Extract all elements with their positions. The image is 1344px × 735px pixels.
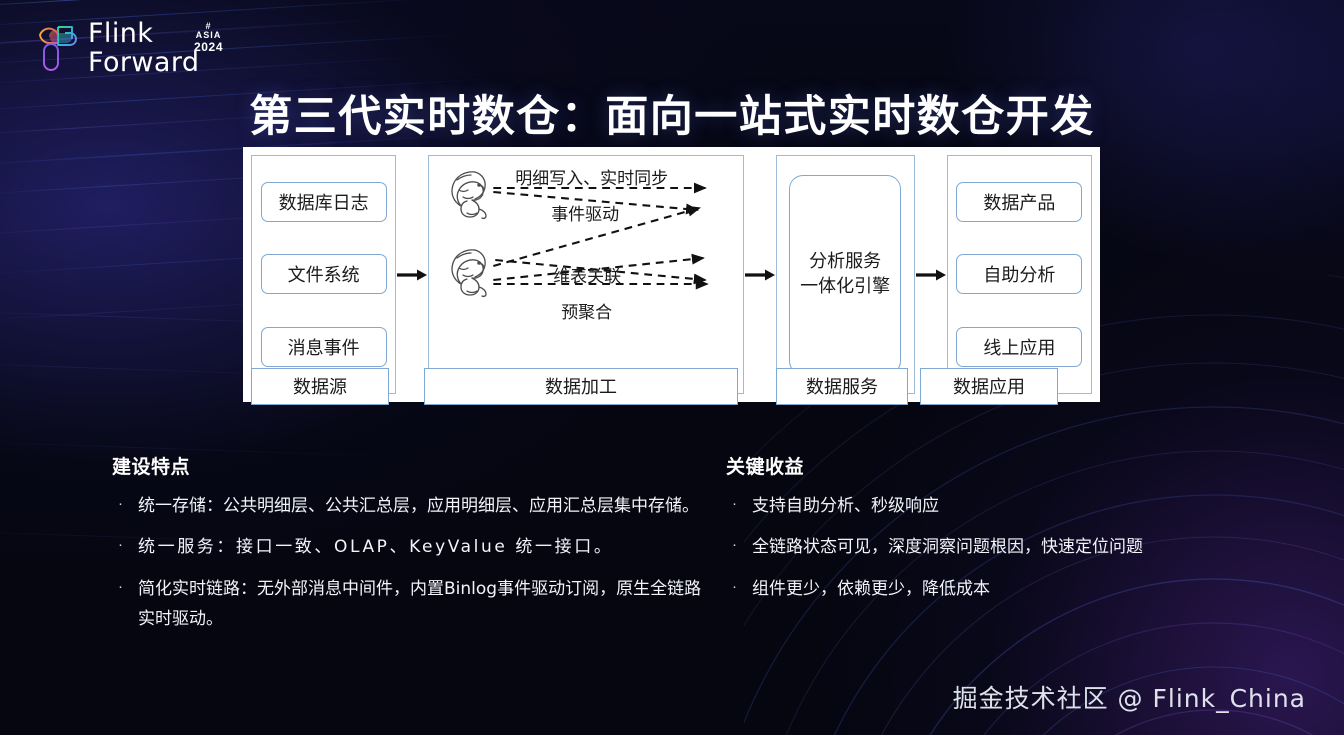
right-column-heading: 关键收益	[726, 452, 1256, 479]
processing-label-event-driven: 事件驱动	[551, 200, 619, 225]
right-bullet-1: 支持自助分析、秒级响应	[752, 491, 939, 521]
brand-edition-badge: # ASIA 2024	[194, 22, 223, 53]
flow-arrow-service-to-application	[915, 155, 947, 394]
list-item: · 简化实时链路：无外部消息中间件，内置Binlog事件驱动订阅，原生全链路实时…	[112, 574, 702, 635]
list-item: · 组件更少，依赖更少，降低成本	[726, 574, 1256, 604]
data-service-panel: 分析服务 一体化引擎	[776, 155, 915, 394]
watermark-text: 掘金技术社区 @ Flink_China	[953, 679, 1306, 715]
app-chip-data-product: 数据产品	[956, 182, 1082, 222]
left-bullet-3: 简化实时链路：无外部消息中间件，内置Binlog事件驱动订阅，原生全链路实时驱动…	[138, 574, 702, 635]
right-bullet-3: 组件更少，依赖更少，降低成本	[752, 574, 990, 604]
brand-wordmark: Flink Forward # ASIA 2024	[88, 20, 199, 76]
caption-data-service: 数据服务	[776, 368, 908, 405]
bullet-dot-icon: ·	[112, 491, 138, 517]
brand-region: # ASIA	[194, 22, 223, 41]
processing-label-detail-write: 明细写入、实时同步	[515, 164, 668, 189]
data-source-panel: 数据库日志 文件系统 消息事件	[251, 155, 396, 394]
brand-logo: Flink Forward # ASIA 2024	[34, 20, 199, 76]
bullet-dot-icon: ·	[726, 532, 752, 558]
source-chip-message-event: 消息事件	[261, 327, 387, 367]
slide-canvas: Flink Forward # ASIA 2024 第三代实时数仓：面向一站式实…	[0, 0, 1344, 735]
page-title: 第三代实时数仓：面向一站式实时数仓开发	[0, 82, 1344, 144]
source-chip-database-log: 数据库日志	[261, 182, 387, 222]
list-item: · 统一存储：公共明细层、公共汇总层，应用明细层、应用汇总层集中存储。	[112, 491, 702, 521]
brand-line-1: Flink	[88, 20, 199, 48]
left-bullet-2: 统一服务：接口一致、OLAP、KeyValue 统一接口。	[138, 532, 613, 562]
column-construction-features: 建设特点 · 统一存储：公共明细层、公共汇总层，应用明细层、应用汇总层集中存储。…	[112, 452, 702, 645]
left-bullet-1: 统一存储：公共明细层、公共汇总层，应用明细层、应用汇总层集中存储。	[138, 491, 699, 521]
brand-year: 2024	[194, 41, 223, 54]
bullet-dot-icon: ·	[726, 491, 752, 517]
bullet-dot-icon: ·	[726, 574, 752, 600]
bullet-dot-icon: ·	[112, 532, 138, 558]
flow-arrow-processing-to-service	[744, 155, 776, 394]
list-item: · 全链路状态可见，深度洞察问题根因，快速定位问题	[726, 532, 1256, 562]
source-chip-file-system: 文件系统	[261, 254, 387, 294]
service-line-2: 一体化引擎	[800, 275, 890, 299]
right-bullet-2: 全链路状态可见，深度洞察问题根因，快速定位问题	[752, 532, 1143, 562]
analysis-service-engine-box: 分析服务 一体化引擎	[789, 175, 901, 375]
data-processing-panel: 明细写入、实时同步 事件驱动 维表关联 预聚合 DWD DWS	[428, 155, 743, 394]
diagram-caption-row: 数据源 数据加工 数据服务 数据应用	[251, 368, 1092, 405]
list-item: · 支持自助分析、秒级响应	[726, 491, 1256, 521]
app-chip-self-service-analysis: 自助分析	[956, 254, 1082, 294]
bullet-dot-icon: ·	[112, 574, 138, 600]
service-line-1: 分析服务	[809, 250, 881, 274]
data-application-panel: 数据产品 自助分析 线上应用	[947, 155, 1092, 394]
architecture-diagram: 数据库日志 文件系统 消息事件	[243, 147, 1100, 402]
flow-arrow-source-to-processing	[396, 155, 428, 394]
flink-forward-logo-icon	[34, 23, 78, 73]
caption-data-application: 数据应用	[920, 368, 1058, 405]
processing-label-dim-join: 维表关联	[553, 262, 621, 287]
column-key-benefits: 关键收益 · 支持自助分析、秒级响应 · 全链路状态可见，深度洞察问题根因，快速…	[726, 452, 1256, 615]
brand-line-2: Forward	[88, 49, 199, 77]
app-chip-online-application: 线上应用	[956, 327, 1082, 367]
caption-data-processing: 数据加工	[424, 368, 738, 405]
list-item: · 统一服务：接口一致、OLAP、KeyValue 统一接口。	[112, 532, 702, 562]
processing-flow-area: 明细写入、实时同步 事件驱动 维表关联 预聚合	[435, 162, 736, 330]
left-column-heading: 建设特点	[112, 452, 702, 479]
diagram-columns: 数据库日志 文件系统 消息事件	[251, 155, 1092, 394]
caption-data-source: 数据源	[251, 368, 389, 405]
processing-label-pre-aggregation: 预聚合	[561, 298, 612, 323]
